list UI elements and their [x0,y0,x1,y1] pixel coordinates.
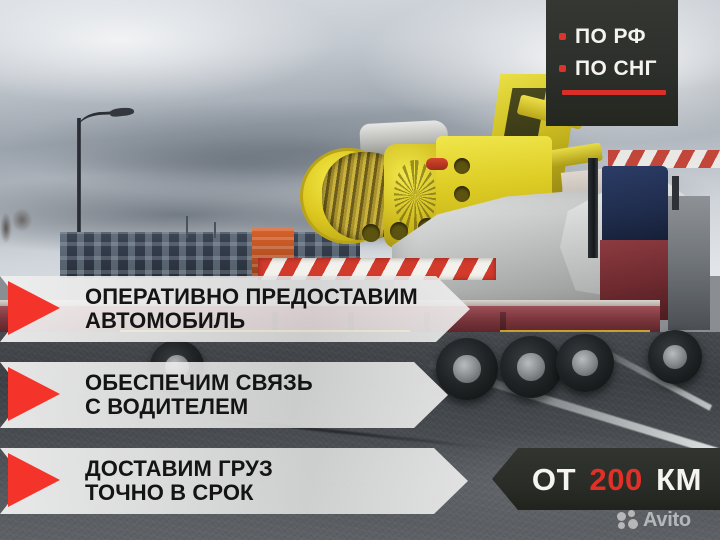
advertisement-banner: 15 50 ПО РФ ПО СНГ ОПЕРАТИВНО ПРЕДОСТАВИ… [0,0,720,540]
antenna-mast-secondary [214,222,216,238]
red-arrow-icon-2 [8,367,60,421]
distance-badge-text: ОТ 200 КМ [532,464,702,495]
feature-banner-3: ДОСТАВИМ ГРУЗ ТОЧНО В СРОК [0,448,468,514]
feature-banner-2-line1: ОБЕСПЕЧИМ СВЯЗЬ [85,371,313,395]
body-port [362,224,380,242]
coverage-item-rf: ПО РФ [546,26,678,47]
distance-badge: ОТ 200 КМ [492,448,720,510]
coverage-label-rf: ПО РФ [575,26,646,47]
bullet-dot-icon [559,33,566,40]
red-arrow-icon-1 [8,281,60,335]
avito-logo-icon [617,510,638,530]
distance-number: 200 [589,462,643,497]
antenna-mast [186,216,188,238]
truck-cab-grey [668,196,710,330]
truck-mirror [672,176,679,210]
feature-banner-1-label: ОПЕРАТИВНО ПРЕДОСТАВИМ АВТОМОБИЛЬ [85,285,418,333]
feature-banner-2-line2: С ВОДИТЕЛЕМ [85,395,313,419]
feature-banner-3-label: ДОСТАВИМ ГРУЗ ТОЧНО В СРОК [85,457,273,505]
red-cap-detail [426,158,448,170]
feature-banner-1-line1: ОПЕРАТИВНО ПРЕДОСТАВИМ [85,285,418,309]
distance-suffix: КМ [656,462,702,497]
avito-watermark: Avito [617,508,713,532]
feature-banner-1: ОПЕРАТИВНО ПРЕДОСТАВИМ АВТОМОБИЛЬ [0,276,470,342]
feature-banner-1-line2: АВТОМОБИЛЬ [85,309,418,333]
exhaust-stack [588,158,598,258]
feature-banner-3-line2: ТОЧНО В СРОК [85,481,273,505]
coverage-badge: ПО РФ ПО СНГ [546,0,678,126]
distance-prefix: ОТ [532,462,576,497]
body-port [454,186,470,202]
feature-banner-2-label: ОБЕСПЕЧИМ СВЯЗЬ С ВОДИТЕЛЕМ [85,371,313,419]
feature-banner-3-line1: ДОСТАВИМ ГРУЗ [85,457,273,481]
trailer-wheel [556,334,614,392]
bare-tree [0,198,40,276]
truck-cab-blue [602,166,668,242]
feature-banner-2: ОБЕСПЕЧИМ СВЯЗЬ С ВОДИТЕЛЕМ [0,362,448,428]
accent-underline [562,90,666,95]
coverage-item-sng: ПО СНГ [546,58,678,79]
coverage-label-sng: ПО СНГ [575,58,657,79]
bullet-dot-icon [559,65,566,72]
truck-wheel [648,330,702,384]
trailer-wheel [436,338,498,400]
trailer-wheel [500,336,562,398]
red-arrow-icon-3 [8,453,60,507]
body-port [454,158,470,174]
avito-wordmark: Avito [643,510,691,530]
